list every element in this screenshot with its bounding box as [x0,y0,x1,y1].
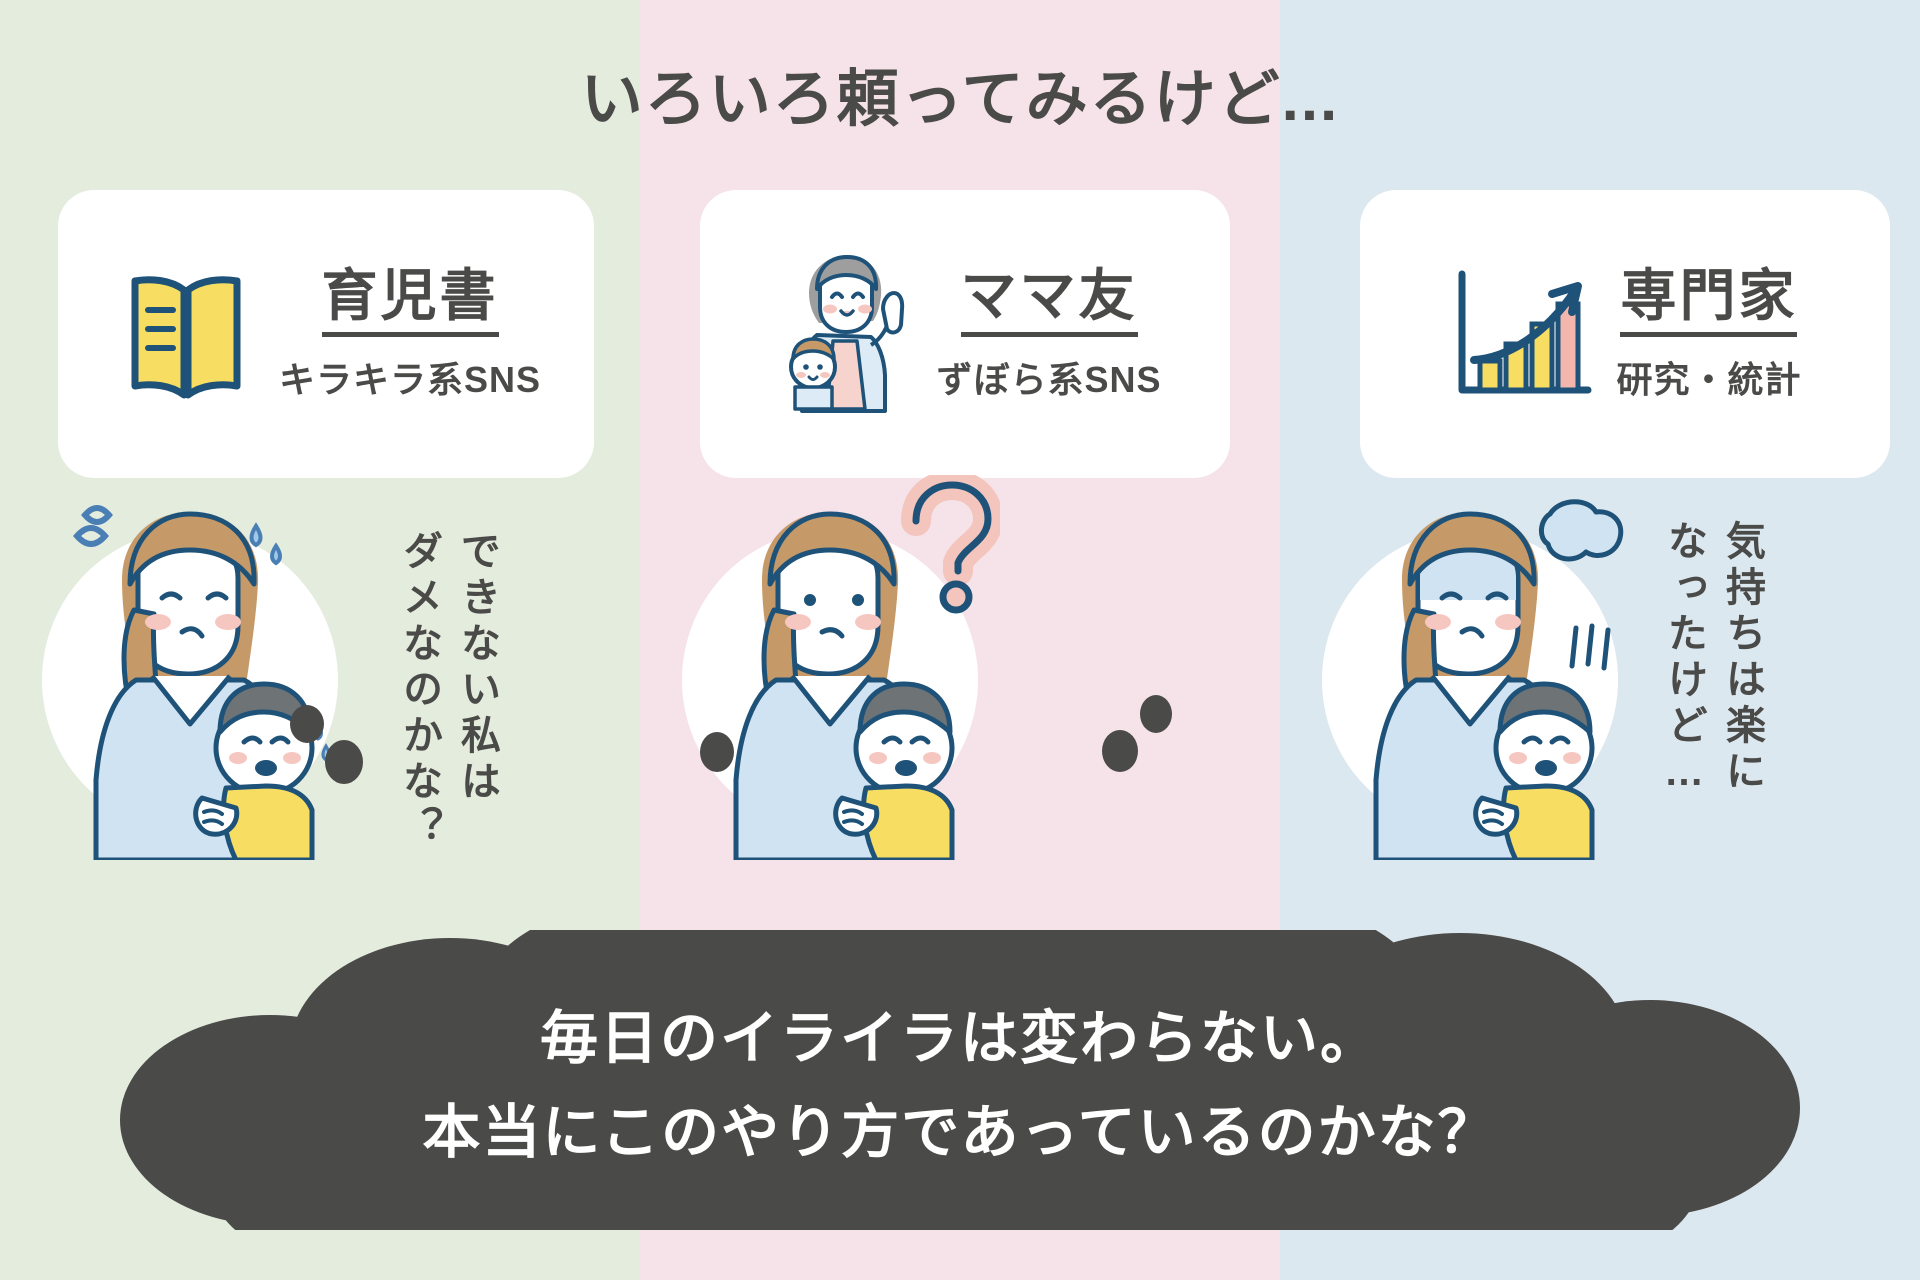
thought-cloud: 毎日のイライラは変わらない。 本当にこのやり方であっているのかな？ [120,930,1800,1230]
mother-baby-illustration-1 [30,480,390,860]
infographic-canvas: いろいろ頼ってみるけど... 育児書 キラキラ系SNS [0,0,1920,1280]
card-text-group: ママ友 ずぼら系SNS [936,265,1161,404]
card-text-group: 育児書 キラキラ系SNS [279,265,541,404]
question-mark-icon [890,475,1000,615]
thought-dot-small [1102,730,1138,772]
open-book-icon [111,249,261,419]
source-card-parenting-book: 育児書 キラキラ系SNS [58,190,594,478]
card-subtitle: キラキラ系SNS [279,351,541,403]
card-subtitle: ずぼら系SNS [936,351,1161,403]
card-title: 育児書 [322,265,499,338]
source-card-expert: 専門家 研究・統計 [1360,190,1890,478]
thought-dot-small [1140,695,1172,733]
thought-text-1: できない私は ダメなのかな？ [390,530,506,830]
card-text-group: 専門家 研究・統計 [1616,265,1801,404]
card-subtitle: 研究・統計 [1616,351,1801,403]
thought-dot-small [700,732,734,772]
bar-chart-icon [1448,249,1598,419]
thought-dot-small [290,705,324,743]
page-title: いろいろ頼ってみるけど... [0,48,1920,138]
source-card-mom-friend: ママ友 ずぼら系SNS [700,190,1230,478]
panel-mom-friend: 気持ちは楽に なったけど… [640,500,1280,930]
mother-baby-illustration-3 [1310,480,1670,860]
card-title: 専門家 [1620,265,1797,338]
card-title: ママ友 [961,265,1138,338]
mother-child-icon [768,249,918,419]
thought-dot-small [325,740,363,784]
panel-expert: 結局は どういうこと？ [1280,500,1920,930]
cloud-shape [120,930,1800,1230]
panel-parenting-book: できない私は ダメなのかな？ [0,500,640,930]
